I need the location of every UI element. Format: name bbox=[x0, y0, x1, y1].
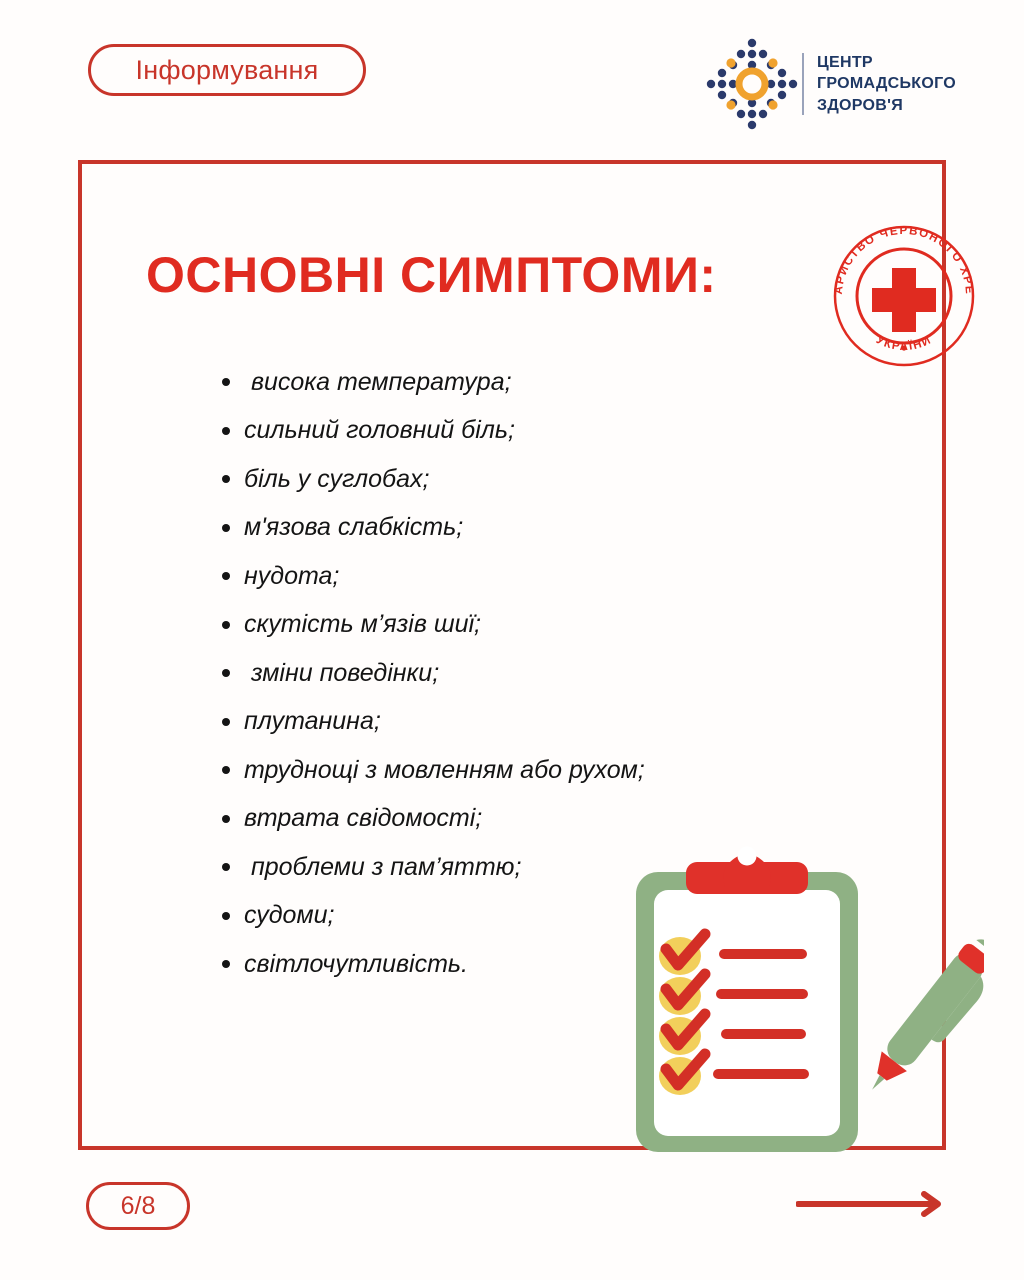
page-indicator: 6/8 bbox=[86, 1182, 190, 1230]
cph-dot-star-icon bbox=[706, 38, 798, 130]
organisation-logo: ЦЕНТР ГРОМАДСЬКОГО ЗДОРОВ'Я bbox=[706, 38, 956, 130]
page-title: ОСНОВНІ СИМПТОМИ: bbox=[146, 248, 717, 303]
page-indicator-label: 6/8 bbox=[121, 1194, 156, 1219]
list-item: сильний головний біль; bbox=[222, 407, 862, 456]
list-item: зміни поведінки; bbox=[222, 649, 862, 698]
list-item: плутанина; bbox=[222, 698, 862, 747]
logo-line-3: ЗДОРОВ'Я bbox=[817, 96, 956, 116]
list-item: біль у суглобах; bbox=[222, 455, 862, 504]
list-item: висока температура; bbox=[222, 358, 862, 407]
logo-divider bbox=[802, 53, 804, 115]
infographic-page: Інформування bbox=[0, 0, 1024, 1280]
list-item: труднощі з мовленням або рухом; bbox=[222, 746, 862, 795]
logo-line-2: ГРОМАДСЬКОГО bbox=[817, 74, 956, 94]
category-tag: Інформування bbox=[88, 44, 366, 96]
category-tag-label: Інформування bbox=[136, 57, 319, 84]
arrow-right-icon[interactable] bbox=[796, 1191, 948, 1217]
logo-line-1: ЦЕНТР bbox=[817, 53, 956, 73]
list-item: нудота; bbox=[222, 552, 862, 601]
list-item: скутість м’язів шиї; bbox=[222, 601, 862, 650]
logo-wordmark: ЦЕНТР ГРОМАДСЬКОГО ЗДОРОВ'Я bbox=[817, 53, 956, 116]
clipboard-checklist-with-pen-icon bbox=[614, 836, 984, 1170]
red-cross-seal-icon: ТОВАРИСТВО ЧЕРВОНОГО ХРЕСТА УКРАЇНИ bbox=[824, 222, 984, 369]
list-item: м'язова слабкість; bbox=[222, 504, 862, 553]
